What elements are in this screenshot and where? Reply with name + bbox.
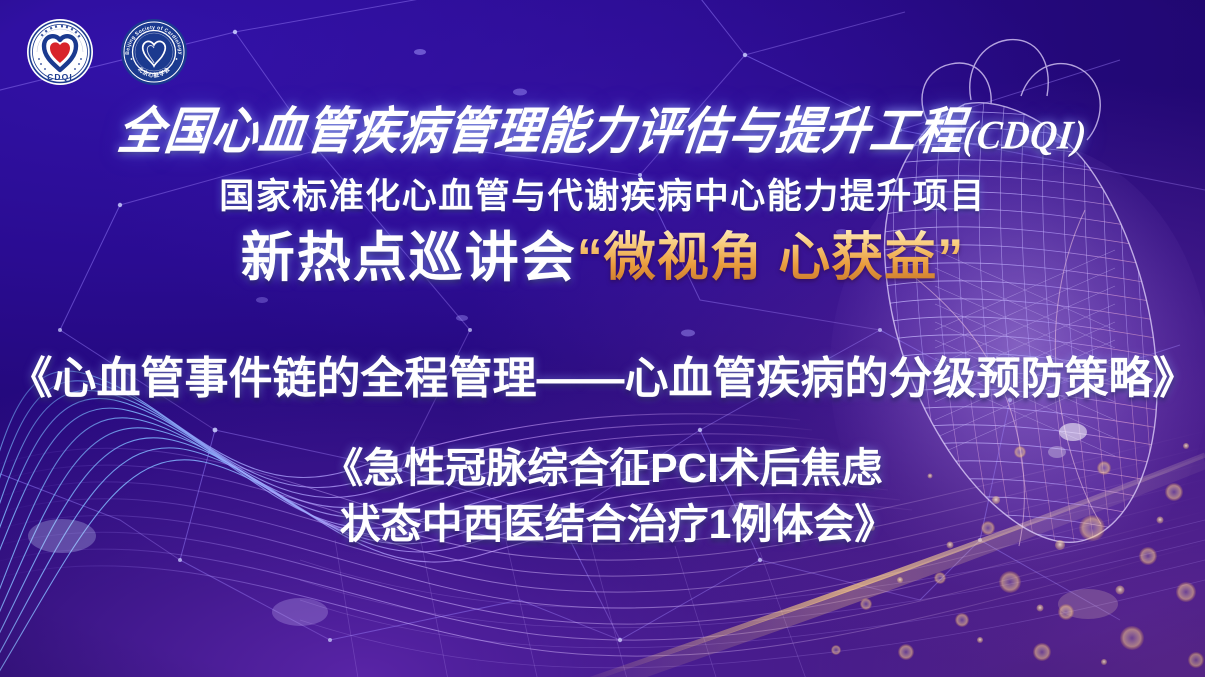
logo-group: CDQI bbox=[26, 18, 188, 86]
talk-title-second-line1: 《急性冠脉综合征PCI术后焦虑 bbox=[322, 445, 882, 491]
talk-title-second: 《急性冠脉综合征PCI术后焦虑 状态中西医结合治疗1例体会》 bbox=[0, 440, 1205, 552]
poster-canvas: CDQI bbox=[0, 0, 1205, 677]
svg-text:CDQI: CDQI bbox=[47, 72, 73, 82]
headline-theme-line: 新热点巡讲会“微视角 心获益” bbox=[0, 228, 1205, 288]
headline-brush-cn: 全国心血管疾病管理能力评估与提升工程 bbox=[115, 103, 968, 159]
talk-title-main: 《心血管事件链的全程管理——心血管疾病的分级预防策略》 bbox=[0, 352, 1205, 406]
headline-brush-en: (CDQI) bbox=[961, 113, 1090, 158]
cdqi-logo: CDQI bbox=[26, 18, 94, 86]
talk-title-second-line2: 状态中西医结合治疗1例体会》 bbox=[0, 496, 1205, 552]
headline-sub-line: 国家标准化心血管与代谢疾病中心能力提升项目 bbox=[0, 176, 1205, 218]
theme-gold-text: “微视角 心获益” bbox=[577, 229, 964, 287]
beijing-society-of-cardiology-logo: Beijing Society of Cardiology 北京心脏学会 bbox=[120, 18, 188, 86]
headline-block: 全国心血管疾病管理能力评估与提升工程(CDQI) 国家标准化心血管与代谢疾病中心… bbox=[0, 104, 1205, 288]
headline-brush-line: 全国心血管疾病管理能力评估与提升工程(CDQI) bbox=[0, 101, 1205, 167]
theme-white-text: 新热点巡讲会 bbox=[241, 228, 577, 288]
titles-block: 《心血管事件链的全程管理——心血管疾病的分级预防策略》 《急性冠脉综合征PCI术… bbox=[0, 352, 1205, 552]
